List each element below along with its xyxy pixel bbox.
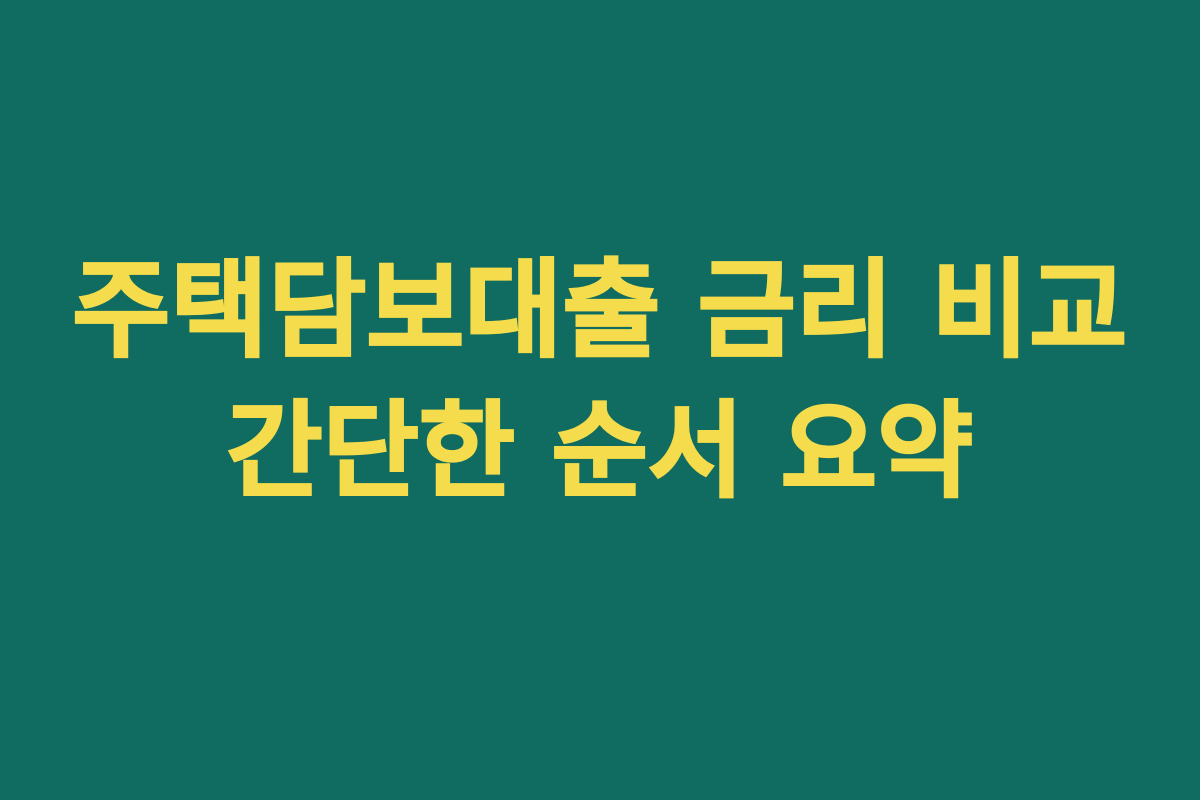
headline-line-1: 주택담보대출 금리 비교 bbox=[0, 241, 1200, 381]
headline-block: 주택담보대출 금리 비교 간단한 순서 요약 bbox=[0, 241, 1200, 521]
headline-line-2: 간단한 순서 요약 bbox=[0, 381, 1200, 521]
thumbnail-card: 주택담보대출 금리 비교 간단한 순서 요약 bbox=[0, 0, 1200, 800]
